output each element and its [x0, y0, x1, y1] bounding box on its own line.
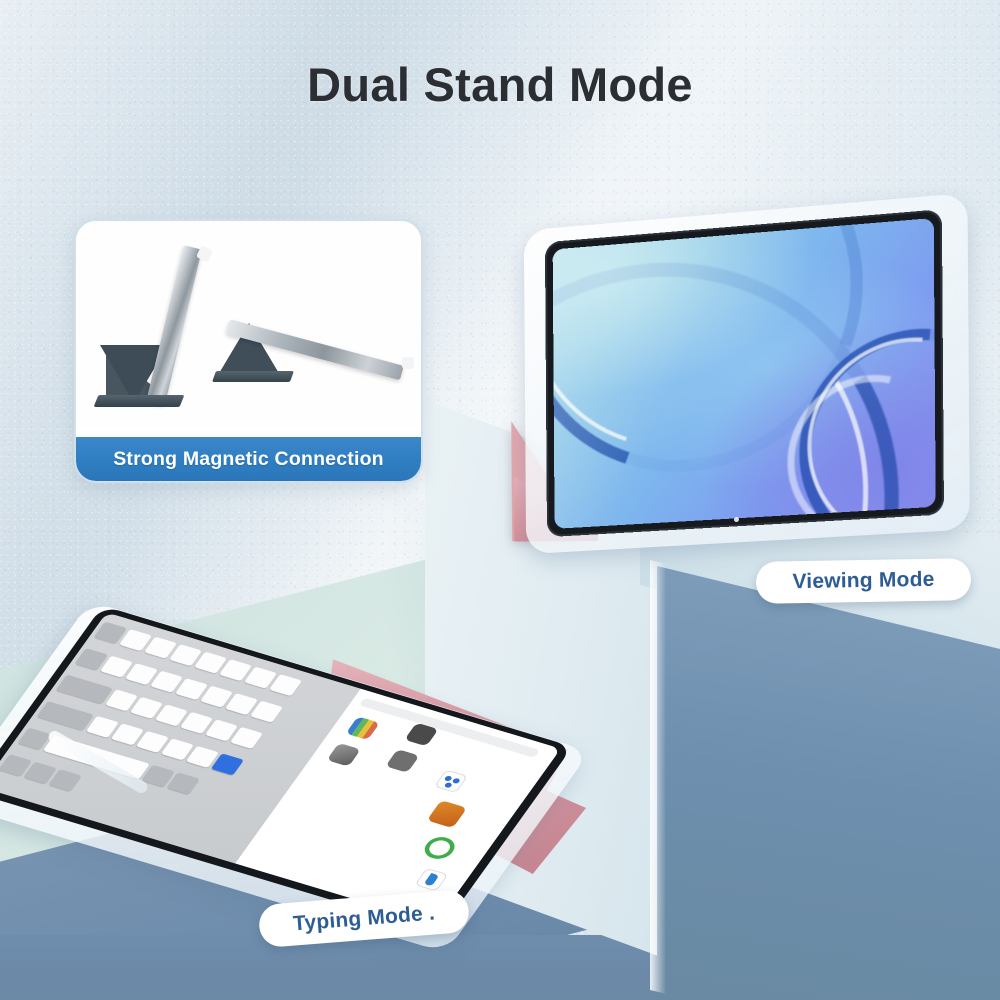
- magnetic-connection-label: Strong Magnetic Connection: [113, 448, 384, 471]
- stand-a-base: [94, 395, 185, 407]
- product-feature-image: Dual Stand Mode: [0, 0, 1000, 1000]
- viewing-mode-label: Viewing Mode: [792, 568, 934, 594]
- card-illustration-area: [76, 221, 421, 427]
- stand-a-tablet-profile: [146, 245, 202, 405]
- viewing-mode-tablet: [518, 210, 967, 543]
- app-icon-photo[interactable]: [327, 743, 361, 767]
- app-icon-blue-mark[interactable]: [414, 868, 448, 892]
- typing-mode-label: Typing Mode .: [292, 901, 436, 936]
- app-icon-blue-group[interactable]: [434, 769, 468, 793]
- viewing-mode-label-pill: Viewing Mode: [756, 558, 972, 604]
- screen-glare: [553, 218, 936, 529]
- app-icon-green-circle[interactable]: [419, 834, 460, 862]
- app-icon-gray[interactable]: [385, 749, 419, 773]
- stand-b-tip: [402, 357, 414, 369]
- page-title: Dual Stand Mode: [0, 57, 1000, 112]
- pedestal-edge-highlight: [650, 560, 666, 994]
- stand-b-base: [212, 371, 294, 382]
- magnetic-connection-card: Strong Magnetic Connection: [74, 219, 423, 483]
- stand-a-tip: [196, 245, 213, 262]
- low-angle-stand-silhouette: [218, 313, 408, 413]
- app-icon-orange[interactable]: [427, 800, 468, 828]
- magnetic-connection-banner: Strong Magnetic Connection: [76, 437, 421, 481]
- app-icon-multicolor[interactable]: [346, 716, 380, 740]
- upright-stand-silhouette: [94, 243, 224, 411]
- typing-mode-tablet: [18, 632, 578, 932]
